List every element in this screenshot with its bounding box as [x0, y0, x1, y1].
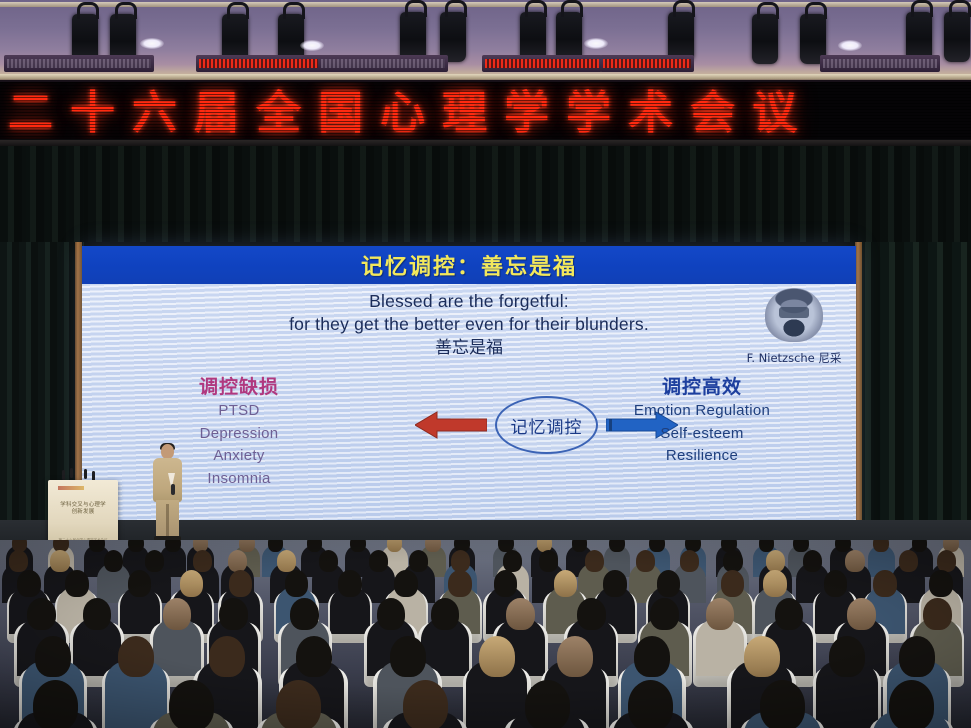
center-node-label: 记忆调控: [511, 413, 583, 438]
audience-member-head: [276, 680, 321, 728]
audience-member-head: [268, 540, 284, 552]
deficit-heading: 调控缺损: [134, 374, 344, 400]
audience-member-head: [824, 570, 847, 597]
audience-member-head: [377, 598, 406, 630]
presenter-legs: [156, 500, 179, 538]
audience-member-head: [585, 550, 604, 572]
audience-member-head: [50, 550, 69, 572]
audience-member-head: [873, 540, 889, 552]
audience-member-head: [180, 570, 203, 597]
quote-line-1: Blessed are the forgetful:: [82, 290, 856, 313]
audience-member-head: [290, 598, 319, 630]
audience-member-head: [721, 570, 744, 597]
audience-member-head: [889, 680, 934, 728]
nietzsche-portrait-block: F. Nietzsche 尼采: [746, 288, 842, 366]
audience-member-head: [128, 570, 151, 597]
audience-seating: [0, 540, 971, 728]
memory-regulation-diagram: 调控缺损 PTSD Depression Anxiety Insomnia 记忆…: [82, 374, 856, 494]
audience-member-head: [17, 570, 40, 597]
led-banner-char: 理: [442, 85, 487, 141]
audience-member-head: [448, 570, 471, 597]
audience-member-head: [572, 540, 588, 552]
led-banner-char: 议: [752, 85, 797, 141]
audience-member-head: [494, 570, 517, 597]
efficacy-item: Resilience: [582, 445, 822, 468]
audience-member-head: [65, 570, 88, 597]
audience-member-head: [723, 550, 742, 572]
audience-member-head: [118, 636, 154, 677]
audience-member-head: [503, 550, 522, 572]
audience-member-head: [479, 636, 515, 677]
lectern-text-line-2: 创新发展: [48, 509, 118, 516]
spotlight-glow: [140, 38, 164, 49]
led-banner-char: 会: [690, 85, 735, 141]
led-banner-char: 心: [380, 85, 425, 141]
led-banner-char: 二: [8, 85, 53, 141]
screen-frame-right: [855, 242, 862, 542]
audience-member-head: [369, 550, 388, 572]
stage-curtain-top: [0, 146, 971, 242]
audience-member-head: [165, 540, 181, 552]
audience-member-head: [163, 598, 192, 630]
audience-member-head: [873, 570, 896, 597]
quote-line-2: for they get the better even for their b…: [82, 313, 856, 336]
led-banner: 二十六届全国心理学学术会议: [0, 80, 971, 142]
led-banner-char: 届: [194, 85, 239, 141]
audience-member-head: [923, 598, 952, 630]
audience-member-head: [285, 570, 308, 597]
efficacy-item: Self-esteem: [582, 423, 822, 446]
lectern-logo: [58, 486, 84, 490]
audience-member-head: [793, 540, 809, 552]
audience-member-head: [775, 598, 804, 630]
audience-member-head: [390, 636, 426, 677]
deficit-item: PTSD: [134, 400, 344, 423]
deficit-item: Depression: [134, 423, 344, 446]
audience-member-head: [193, 550, 212, 572]
audience-member-head: [766, 550, 785, 572]
audience-member-head: [104, 550, 123, 572]
audience-member-head: [169, 680, 214, 728]
stage-spotlight-icon: [752, 14, 778, 64]
audience-member-head: [128, 540, 144, 552]
auditorium-upper-wall: [0, 0, 971, 80]
audience-member-head: [650, 598, 679, 630]
audience-member-head: [229, 570, 252, 597]
audience-member-head: [929, 570, 952, 597]
spotlight-glow: [838, 40, 862, 51]
audience-member-head: [899, 636, 935, 677]
audience-member-head: [239, 540, 255, 552]
audience-member-head: [609, 540, 625, 552]
audience-member-head: [89, 540, 105, 552]
audience-member-head: [649, 540, 665, 552]
audience-member-head: [387, 540, 403, 552]
audience-member-head: [657, 570, 680, 597]
audience-member-head: [307, 540, 323, 552]
slide-title: 记忆调控：善忘是福: [361, 249, 577, 281]
audience-member-head: [603, 570, 626, 597]
lectern-text-line-1: 学科交叉与心理学: [48, 502, 118, 509]
stage-spotlight-icon: [944, 12, 970, 62]
conference-hall-scene: 二十六届全国心理学学术会议 记忆调控：善忘是福 Blessed are the …: [0, 0, 971, 728]
audience-member-head: [506, 598, 535, 630]
audience-member-head: [209, 636, 245, 677]
audience-member-head: [829, 636, 865, 677]
audience-member-head: [296, 636, 332, 677]
audience-member-head: [628, 680, 673, 728]
efficacy-heading: 调控高效: [582, 374, 822, 400]
audience-member-head: [394, 570, 417, 597]
audience-member-head: [338, 570, 361, 597]
audience-member-head: [33, 680, 78, 728]
audience-member-head: [350, 540, 366, 552]
audience-member-head: [27, 598, 56, 630]
audience-member-head: [83, 598, 112, 630]
presenter-suit: [153, 458, 182, 502]
led-banner-char: 学: [566, 85, 611, 141]
audience-member-head: [219, 598, 248, 630]
audience-member-head: [319, 550, 338, 572]
audience-member-head: [937, 550, 956, 572]
audience-member-head: [557, 636, 593, 677]
led-banner-char: 六: [132, 85, 177, 141]
slide-title-bar: 记忆调控：善忘是福: [82, 246, 856, 284]
efficacy-item: Emotion Regulation: [582, 400, 822, 423]
audience-member-head: [9, 550, 28, 572]
audience-member-head: [431, 598, 460, 630]
audience-member-head: [35, 636, 71, 677]
spotlight-glow: [584, 38, 608, 49]
portrait-attribution: F. Nietzsche 尼采: [746, 350, 842, 366]
audience-member-head: [760, 680, 805, 728]
spotlight-glow: [300, 40, 324, 51]
led-banner-char: 国: [318, 85, 363, 141]
audience-member-head: [577, 598, 606, 630]
audience-member-head: [912, 540, 928, 552]
audience-member-head: [899, 550, 918, 572]
audience-member-head: [403, 680, 448, 728]
truss-rail-bottom: [0, 74, 971, 79]
audience-member-head: [763, 570, 786, 597]
audience-member-head: [680, 550, 699, 572]
handheld-microphone-icon: [171, 484, 175, 495]
lectern-text: 学科交叉与心理学 创新发展: [48, 502, 118, 516]
quote-line-3: 善忘是福: [82, 336, 856, 360]
portrait-image: [765, 288, 823, 342]
slide-quote: Blessed are the forgetful: for they get …: [82, 290, 856, 360]
audience-member-head: [554, 570, 577, 597]
presenter: [148, 444, 186, 540]
audience-member-head: [145, 550, 164, 572]
audience-member-head: [634, 636, 670, 677]
led-banner-char: 全: [256, 85, 301, 141]
audience-member-head: [539, 550, 558, 572]
audience-member-head: [277, 550, 296, 572]
audience-member-head: [845, 550, 864, 572]
audience-member-head: [451, 550, 470, 572]
audience-member-head: [744, 636, 780, 677]
audience-member-head: [835, 540, 851, 552]
projection-screen: 记忆调控：善忘是福 Blessed are the forgetful: for…: [82, 246, 856, 542]
arrow-left-red: [415, 410, 487, 440]
led-banner-char: 术: [628, 85, 673, 141]
audience-member-head: [706, 598, 735, 630]
presenter-head: [161, 444, 174, 459]
audience-member-head: [803, 550, 822, 572]
audience-member-head: [636, 550, 655, 572]
audience-member-head: [409, 550, 428, 572]
audience-member-head: [228, 550, 247, 572]
audience-member-head: [847, 598, 876, 630]
led-banner-char: 学: [504, 85, 549, 141]
audience-member-head: [525, 680, 570, 728]
audience-member-head: [425, 540, 441, 552]
led-banner-char: 十: [70, 85, 115, 141]
efficacy-column: 调控高效 Emotion Regulation Self-esteem Resi…: [582, 374, 822, 468]
